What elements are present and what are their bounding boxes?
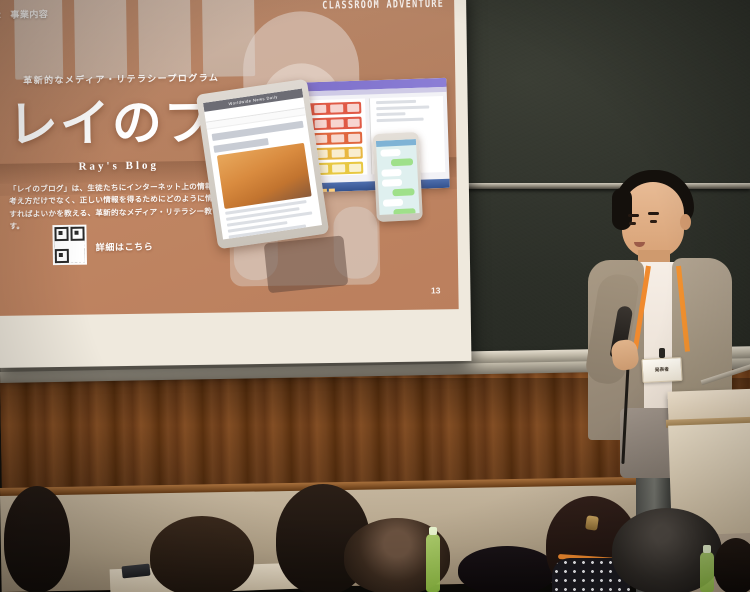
slide-page-number: 13 <box>431 285 441 295</box>
audience-member <box>458 546 556 592</box>
tablet-screen: Worldwide News Daily <box>203 88 322 239</box>
phone-appbar <box>376 139 416 147</box>
qr-code-pattern <box>54 227 85 263</box>
name-badge: 発表者 <box>641 357 682 383</box>
chat-bubble-own <box>392 188 414 196</box>
presenter-eye <box>650 220 657 223</box>
qr-code-label: 詳細はこちら <box>96 240 154 254</box>
water-bottle[interactable] <box>426 534 440 592</box>
illustration-window <box>138 0 191 78</box>
tablet-article-photo <box>217 143 312 209</box>
presenter-eyebrow <box>648 212 659 215</box>
illustration-window <box>74 0 127 79</box>
chat-bubble <box>383 199 403 207</box>
hair-clip <box>585 515 599 531</box>
chat-bubble <box>381 169 401 177</box>
tablet-mockup: Worldwide News Daily <box>196 79 329 250</box>
qr-code <box>52 225 87 265</box>
slide-logo-english: Ray's Blog <box>78 160 159 173</box>
qr-finder-icon <box>70 227 84 241</box>
water-bottle[interactable] <box>700 552 714 592</box>
qr-finder-icon <box>55 249 69 263</box>
presentation-slide: 02 事業内容 CLASSROOM ADVENTURE 革新的なメディア・リテラ… <box>0 0 459 316</box>
slide-section-label: 事業内容 <box>10 9 48 20</box>
character-tablet <box>264 235 349 293</box>
phone-screen <box>376 139 420 215</box>
phone-mockup <box>373 132 423 222</box>
chat-bubble-own <box>393 208 415 215</box>
slide-section-number: 02 <box>0 10 1 20</box>
audience-member <box>4 486 70 592</box>
audience-member <box>714 538 750 592</box>
presenter-ear <box>680 214 691 230</box>
projection-screen: 02 事業内容 CLASSROOM ADVENTURE 革新的なメディア・リテラ… <box>0 0 471 368</box>
chat-bubble <box>380 149 400 157</box>
badge-clip <box>659 348 665 358</box>
chat-bubble <box>382 179 402 187</box>
audience-member <box>150 516 254 592</box>
slide-section-header: 02 事業内容 <box>0 7 48 21</box>
screenshot-root: 02 事業内容 CLASSROOM ADVENTURE 革新的なメディア・リテラ… <box>0 0 750 592</box>
presenter-eye <box>629 222 636 225</box>
presenter-eyebrow <box>628 214 639 217</box>
name-badge-text: 発表者 <box>655 367 670 374</box>
chat-bubble-own <box>391 158 413 166</box>
brand-logo: CLASSROOM ADVENTURE <box>322 0 444 12</box>
qr-finder-icon <box>54 227 68 241</box>
